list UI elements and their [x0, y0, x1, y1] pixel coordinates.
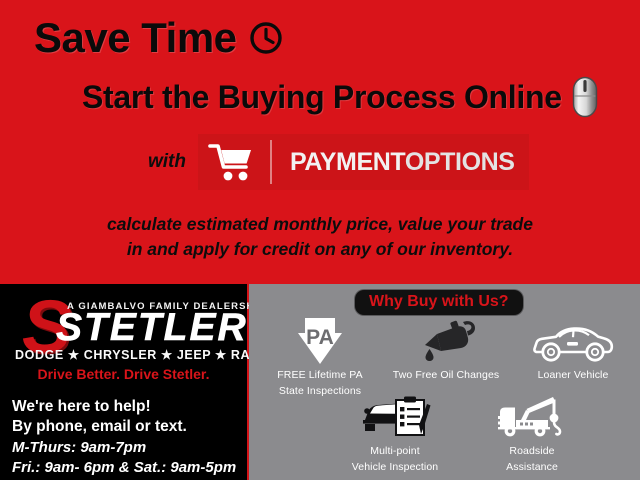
benefit-item-loaner-vehicle: Loaner Vehicle	[511, 314, 635, 382]
oil-can-icon	[383, 314, 509, 366]
payment-options-logo: PAYMENTOPTIONS	[198, 134, 529, 190]
dealer-slogan: Drive Better. Drive Stetler.	[15, 366, 232, 382]
wordmark-options: OPTIONS	[405, 148, 515, 176]
benefit-item-roadside-assistance: Roadside Assistance	[467, 392, 597, 474]
benefit-label-line1: FREE Lifetime PA	[257, 369, 383, 382]
headline-secondary: Start the Buying Process Online	[82, 76, 598, 118]
dealer-name: STETLER	[56, 306, 248, 350]
contact-line-2: By phone, email or text.	[12, 417, 236, 437]
tow-truck-icon	[467, 392, 597, 442]
wordmark-payment: PAYMENT	[290, 148, 405, 176]
payment-options-brand: with PAYMENTOPTIONS	[148, 133, 529, 191]
tagline-line-1: calculate estimated monthly price, value…	[107, 214, 533, 234]
clock-icon	[249, 21, 283, 55]
with-label: with	[148, 151, 186, 173]
hero-section: Save Time Start the Buying Process Onlin…	[0, 0, 640, 284]
pa-keystone-icon: PA	[257, 314, 383, 366]
car-clipboard-icon	[327, 392, 463, 442]
benefit-label-line1: Two Free Oil Changes	[383, 369, 509, 382]
shopping-cart-icon	[208, 141, 254, 183]
payment-options-wordmark: PAYMENTOPTIONS	[290, 148, 515, 177]
benefit-label-line2: Assistance	[467, 461, 597, 474]
benefit-label-line1: Multi-point	[327, 445, 463, 458]
contact-line-1: We're here to help!	[12, 397, 236, 417]
benefit-label-line1: Roadside	[467, 445, 597, 458]
mouse-icon	[572, 76, 598, 118]
benefit-label-line2: Vehicle Inspection	[327, 461, 463, 474]
tagline-line-2: in and apply for credit on any of our in…	[0, 237, 640, 262]
dealer-panel: S A GIAMBALVO FAMILY DEALERSHIP STETLER …	[0, 284, 247, 480]
dealer-contact-info: We're here to help! By phone, email or t…	[12, 397, 236, 478]
benefit-item-multipoint-inspection: Multi-point Vehicle Inspection	[327, 392, 463, 474]
advertisement-banner: Save Time Start the Buying Process Onlin…	[0, 0, 640, 480]
benefits-panel: Why Buy with Us? PA FREE Lifetime PA Sta…	[249, 284, 640, 480]
benefit-item-pa-inspections: PA FREE Lifetime PA State Inspections	[257, 314, 383, 398]
contact-hours-weekend: Fri.: 9am- 6pm & Sat.: 9am-5pm	[12, 458, 236, 478]
dealer-logo: S A GIAMBALVO FAMILY DEALERSHIP STETLER …	[0, 284, 247, 387]
contact-hours-weekday: M-Thurs: 9am-7pm	[12, 438, 236, 458]
hero-tagline: calculate estimated monthly price, value…	[0, 212, 640, 263]
headline-primary: Save Time	[34, 14, 283, 62]
headline-primary-text: Save Time	[34, 14, 237, 62]
dealer-brands: DODGE ★ CHRYSLER ★ JEEP ★ RAM	[15, 347, 232, 362]
benefit-label-line1: Loaner Vehicle	[511, 369, 635, 382]
car-icon	[511, 314, 635, 366]
pa-keystone-label: PA	[306, 326, 334, 349]
logo-divider	[270, 140, 272, 184]
benefits-heading: Why Buy with Us?	[355, 290, 523, 315]
benefit-item-oil-changes: Two Free Oil Changes	[383, 314, 509, 382]
headline-secondary-text: Start the Buying Process Online	[82, 79, 562, 116]
